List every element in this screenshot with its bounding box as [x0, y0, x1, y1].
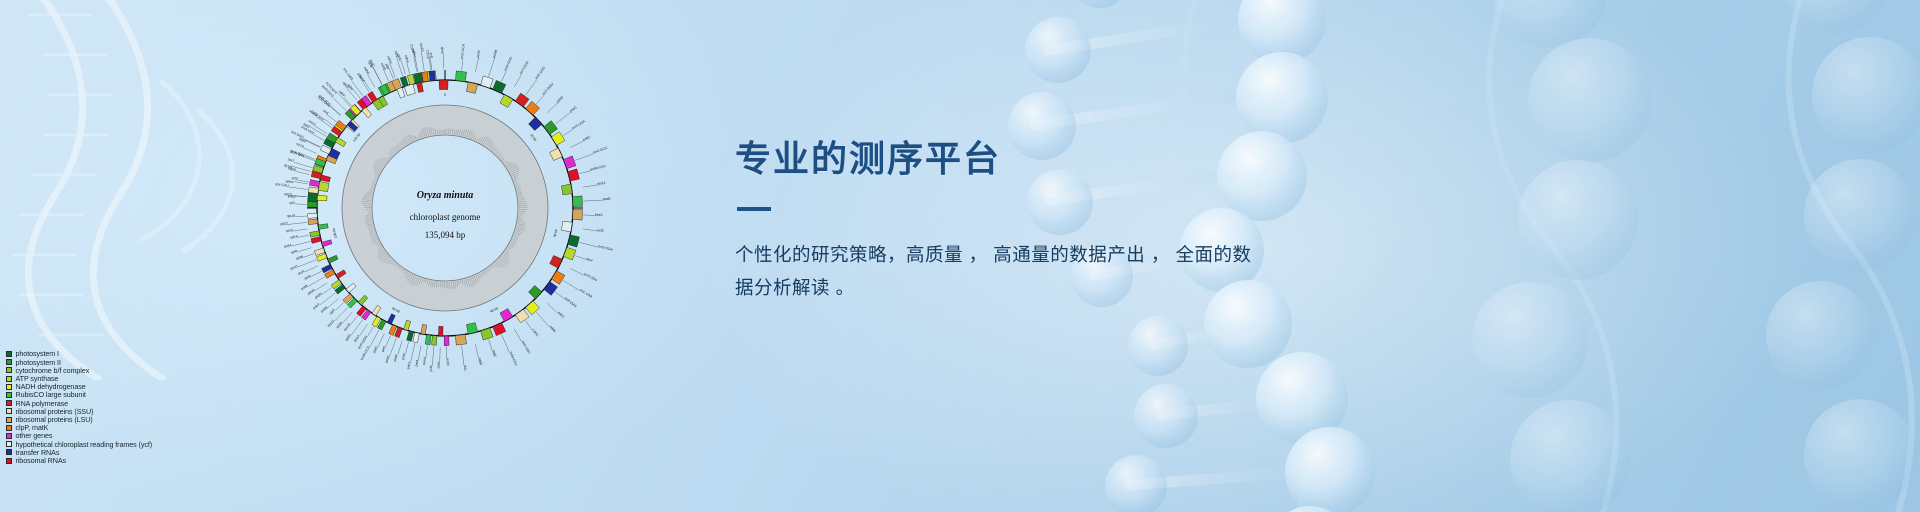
genome-gene-label: psbC — [569, 105, 578, 113]
genome-subtitle-label: chloroplast genome — [410, 212, 481, 222]
genome-gene-label: cemA — [422, 356, 427, 366]
genome-feature-block — [515, 309, 529, 323]
genome-feature-block — [308, 187, 318, 194]
hero-banner: psbAmatKrps16trnQ-UUGpsbKpsbItrnS-GCUtrn… — [0, 0, 1920, 512]
genome-tick-label: 40 kb — [552, 229, 558, 238]
genome-feature-block — [466, 323, 477, 334]
genome-gene-label: psbH — [307, 288, 316, 296]
genome-feature-block — [346, 283, 356, 292]
genome-gene-label: rps11 — [290, 264, 299, 271]
legend-item: photosystem I — [6, 350, 256, 358]
genome-gene-label: rps15 — [419, 43, 424, 52]
genome-tick-label: 20 kb — [529, 133, 537, 142]
genome-feature-block — [526, 101, 540, 115]
genome-feature-block — [400, 76, 408, 87]
genome-feature-block — [455, 71, 466, 82]
legend-item-label: cytochrome b/f complex — [16, 367, 90, 374]
legend-item-label: RubisCO large subunit — [16, 391, 86, 398]
legend-item-label: clpP, matK — [16, 424, 49, 431]
genome-gene-label: rps7 — [287, 157, 295, 163]
genome-gene-label: trnS-UGA — [571, 119, 586, 130]
genome-gene-label: psbN — [314, 291, 323, 299]
title-divider — [737, 207, 771, 211]
genome-gene-label: rrn5 — [322, 109, 329, 116]
genome-gene-label: petA — [414, 358, 419, 366]
genome-gene-label: rps19 — [287, 214, 296, 218]
genome-feature-block — [563, 156, 575, 169]
legend-color-swatch — [6, 449, 12, 455]
genome-gene-label: rps4 — [586, 257, 594, 263]
genome-gene-label: trnF-GAA — [564, 296, 578, 308]
genome-gene-label: rpoB — [440, 46, 444, 54]
genome-gene-label: rps8 — [290, 249, 298, 255]
genome-gene-label: petB — [300, 284, 309, 291]
genome-organism-label: Oryza minuta — [417, 190, 473, 201]
legend-item-label: photosystem I — [16, 350, 59, 357]
genome-tick-label: 60 kb — [489, 306, 498, 313]
legend-item-label: NADH dehydrogenase — [16, 383, 86, 390]
genome-feature-block — [561, 184, 572, 195]
genome-gene-label: trnG-GCC — [592, 146, 608, 155]
genome-length-label: 135,094 bp — [425, 230, 466, 240]
genome-feature-block — [318, 224, 328, 230]
genome-feature-block — [529, 285, 542, 298]
legend-color-swatch — [6, 359, 12, 365]
genome-gene-label: psbJ — [406, 361, 412, 369]
genome-gene-label: rpl16 — [290, 234, 298, 239]
legend-color-swatch — [6, 392, 12, 398]
legend-item: ribosomal RNAs — [6, 456, 256, 464]
genome-feature-block — [526, 301, 540, 315]
genome-feature-block — [550, 148, 563, 161]
genome-feature-block — [432, 335, 437, 345]
hero-subtitle: 个性化的研究策略，高质量 ， 高通量的数据产出 ， 全面的数据分析解读 。 — [735, 239, 1265, 304]
genome-gene-label: rps18 — [343, 323, 352, 332]
genome-feature-block — [387, 314, 395, 324]
genome-gene-label: accD — [446, 358, 450, 366]
genome-feature-block — [328, 255, 338, 263]
genome-gene-label: ndhK — [548, 325, 557, 334]
genome-gene-label: ndhA — [404, 55, 410, 64]
genome-gene-label: atpB — [478, 358, 484, 366]
genome-gene-label: trnC-GCA — [460, 43, 466, 59]
genome-feature-block — [493, 323, 506, 336]
genome-gene-label: ndhI — [394, 50, 400, 58]
legend-color-swatch — [6, 400, 12, 406]
genome-feature-block — [500, 309, 513, 322]
genome-gene-label: petN — [476, 50, 482, 58]
genome-gene-label: trnL-UAG — [342, 67, 354, 81]
legend-item: RubisCO large subunit — [6, 391, 256, 399]
legend-item-label: RNA polymerase — [16, 400, 69, 407]
genome-gene-label: trnD-GUC — [503, 56, 513, 72]
genome-gene-label: trnM-CAU — [509, 351, 519, 367]
genome-feature-block — [336, 270, 346, 279]
genome-feature-block — [573, 196, 583, 207]
genome-gene-label: trnY-GUA — [519, 60, 530, 75]
genome-feature-block — [358, 295, 368, 305]
genome-gene-label: psaA — [595, 213, 604, 217]
genome-feature-block — [515, 93, 529, 107]
genome-gene-label: rpl36 — [295, 254, 304, 260]
genome-gene-label: rpl22 — [280, 221, 288, 226]
genome-gene-label: psaI — [436, 362, 440, 369]
genome-gene-label: trnL-UAA — [579, 288, 594, 299]
legend-color-swatch — [6, 417, 12, 423]
genome-gene-label: ycf3 — [597, 228, 604, 233]
legend-item-label: ribosomal proteins (LSU) — [16, 416, 93, 423]
genome-feature-block — [308, 219, 318, 225]
genome-tick-label: 0 — [444, 93, 446, 97]
genome-gene-label: psbT — [312, 302, 320, 310]
genome-feature-block — [455, 334, 466, 345]
genome-tick-label: 80 kb — [391, 306, 400, 313]
genome-gene-label: ndhJ — [557, 311, 565, 319]
genome-gene-label: petD — [304, 274, 313, 281]
legend-item-label: other genes — [16, 432, 53, 439]
genome-gene-label: ndhC — [531, 328, 539, 337]
genome-gene-label: ndhH — [411, 49, 417, 58]
genome-feature-block — [429, 71, 435, 81]
genome-gene-label: ycf4 — [429, 365, 433, 372]
genome-tick-label: 120 kb — [352, 132, 362, 143]
genome-feature-block — [551, 132, 564, 146]
genome-gene-label: psbL — [401, 352, 407, 360]
genome-feature-block — [322, 240, 332, 247]
genome-feature-block — [573, 210, 583, 221]
genome-feature-block — [417, 82, 424, 92]
legend-item-label: transfer RNAs — [16, 449, 60, 456]
genome-gene-label: rbcL — [463, 365, 468, 372]
genome-gene-label: ndhF — [338, 89, 346, 97]
legend-item-label: ribosomal RNAs — [16, 457, 67, 464]
genome-feature-block — [561, 221, 572, 232]
genome-gene-label: psbD — [556, 95, 565, 104]
genome-legend: photosystem Iphotosystem IIcytochrome b/… — [6, 350, 256, 465]
genome-feature-block — [466, 82, 477, 93]
genome-gene-label: trnS-GGA — [598, 244, 614, 252]
genome-gene-label: trnV-UAC — [521, 340, 532, 355]
legend-item-label: photosystem II — [16, 359, 61, 366]
genome-gene-label: rps12 — [327, 319, 336, 328]
genome-feature-block — [320, 175, 330, 182]
genome-gene-label: clpP — [328, 308, 336, 316]
genome-gene-label: trnT-UGU — [583, 272, 598, 282]
genome-feature-block — [335, 138, 346, 147]
genome-gene-label: psaB — [603, 197, 612, 201]
genome-gene-label: atpE — [491, 349, 497, 358]
legend-color-swatch — [6, 441, 12, 447]
genome-feature-block — [407, 331, 414, 341]
legend-color-swatch — [6, 425, 12, 431]
genome-feature-block — [551, 271, 564, 285]
genome-gene-label: trnfM-CAU — [590, 164, 607, 172]
genome-feature-block — [500, 95, 513, 108]
legend-color-swatch — [6, 408, 12, 414]
genome-gene-label: psbF — [393, 354, 399, 362]
genome-feature-block — [318, 181, 329, 191]
genome-gene-label: psbM — [492, 49, 498, 58]
legend-item-label: ribosomal proteins (SSU) — [16, 408, 94, 415]
legend-color-swatch — [6, 384, 12, 390]
chloroplast-genome-map: psbAmatKrps16trnQ-UUGpsbKpsbItrnS-GCUtrn… — [245, 8, 645, 408]
genome-feature-block — [425, 335, 431, 345]
genome-feature-block — [397, 88, 405, 99]
genome-gene-label: trnT-GGU — [542, 82, 555, 96]
legend-color-swatch — [6, 351, 12, 357]
genome-gene-label: trnI-GAU — [291, 130, 305, 140]
genome-feature-block — [550, 255, 563, 268]
legend-color-swatch — [6, 376, 12, 382]
genome-feature-block — [372, 305, 381, 315]
genome-gene-label: rpl33 — [344, 333, 352, 342]
legend-color-swatch — [6, 458, 12, 464]
hero-copy: 专业的测序平台 个性化的研究策略，高质量 ， 高通量的数据产出 ， 全面的数据分… — [735, 138, 1355, 304]
genome-feature-block — [544, 121, 558, 135]
genome-gene-label: rpl14 — [284, 243, 292, 249]
genome-gene-label: rpl23 — [284, 192, 292, 197]
genome-feature-block — [529, 117, 542, 130]
genome-gene-label: trnE-UUC — [534, 65, 546, 80]
legend-item-label: hypothetical chloroplast reading frames … — [16, 441, 153, 448]
genome-feature-block — [493, 80, 506, 93]
genome-feature-block — [308, 213, 318, 218]
genome-gene-label: ndhG — [386, 55, 393, 65]
genome-feature-block — [404, 320, 411, 330]
genome-feature-block — [444, 336, 449, 346]
genome-feature-block — [308, 192, 318, 202]
legend-item: other genes — [6, 432, 256, 440]
genome-gene-label: ycf1 — [429, 52, 434, 59]
legend-color-swatch — [6, 367, 12, 373]
genome-gene-label: rps14 — [597, 181, 606, 186]
genome-gene-label: rpl2 — [289, 201, 295, 205]
genome-gene-label: trnI-CAU — [275, 182, 289, 188]
legend-color-swatch — [6, 433, 12, 439]
genome-gene-label: psbZ — [582, 135, 591, 142]
genome-gene-label: rpl20 — [335, 321, 343, 329]
genome-feature-block — [317, 195, 327, 201]
genome-feature-block — [421, 324, 427, 334]
genome-feature-block — [563, 247, 575, 260]
genome-tick-label: 100 kb — [332, 228, 338, 239]
genome-gene-label: ndhB — [288, 166, 297, 172]
genome-feature-block — [308, 202, 318, 208]
legend-item-label: ATP synthase — [16, 375, 59, 382]
genome-gene-label: psaJ — [353, 334, 360, 342]
genome-feature-block — [439, 80, 448, 90]
genome-gene-label: rpoA — [297, 269, 306, 276]
page-title: 专业的测序平台 — [735, 138, 1355, 179]
genome-gene-label: rps3 — [286, 228, 293, 233]
genome-feature-block — [438, 326, 443, 336]
genome-feature-block — [544, 282, 558, 296]
